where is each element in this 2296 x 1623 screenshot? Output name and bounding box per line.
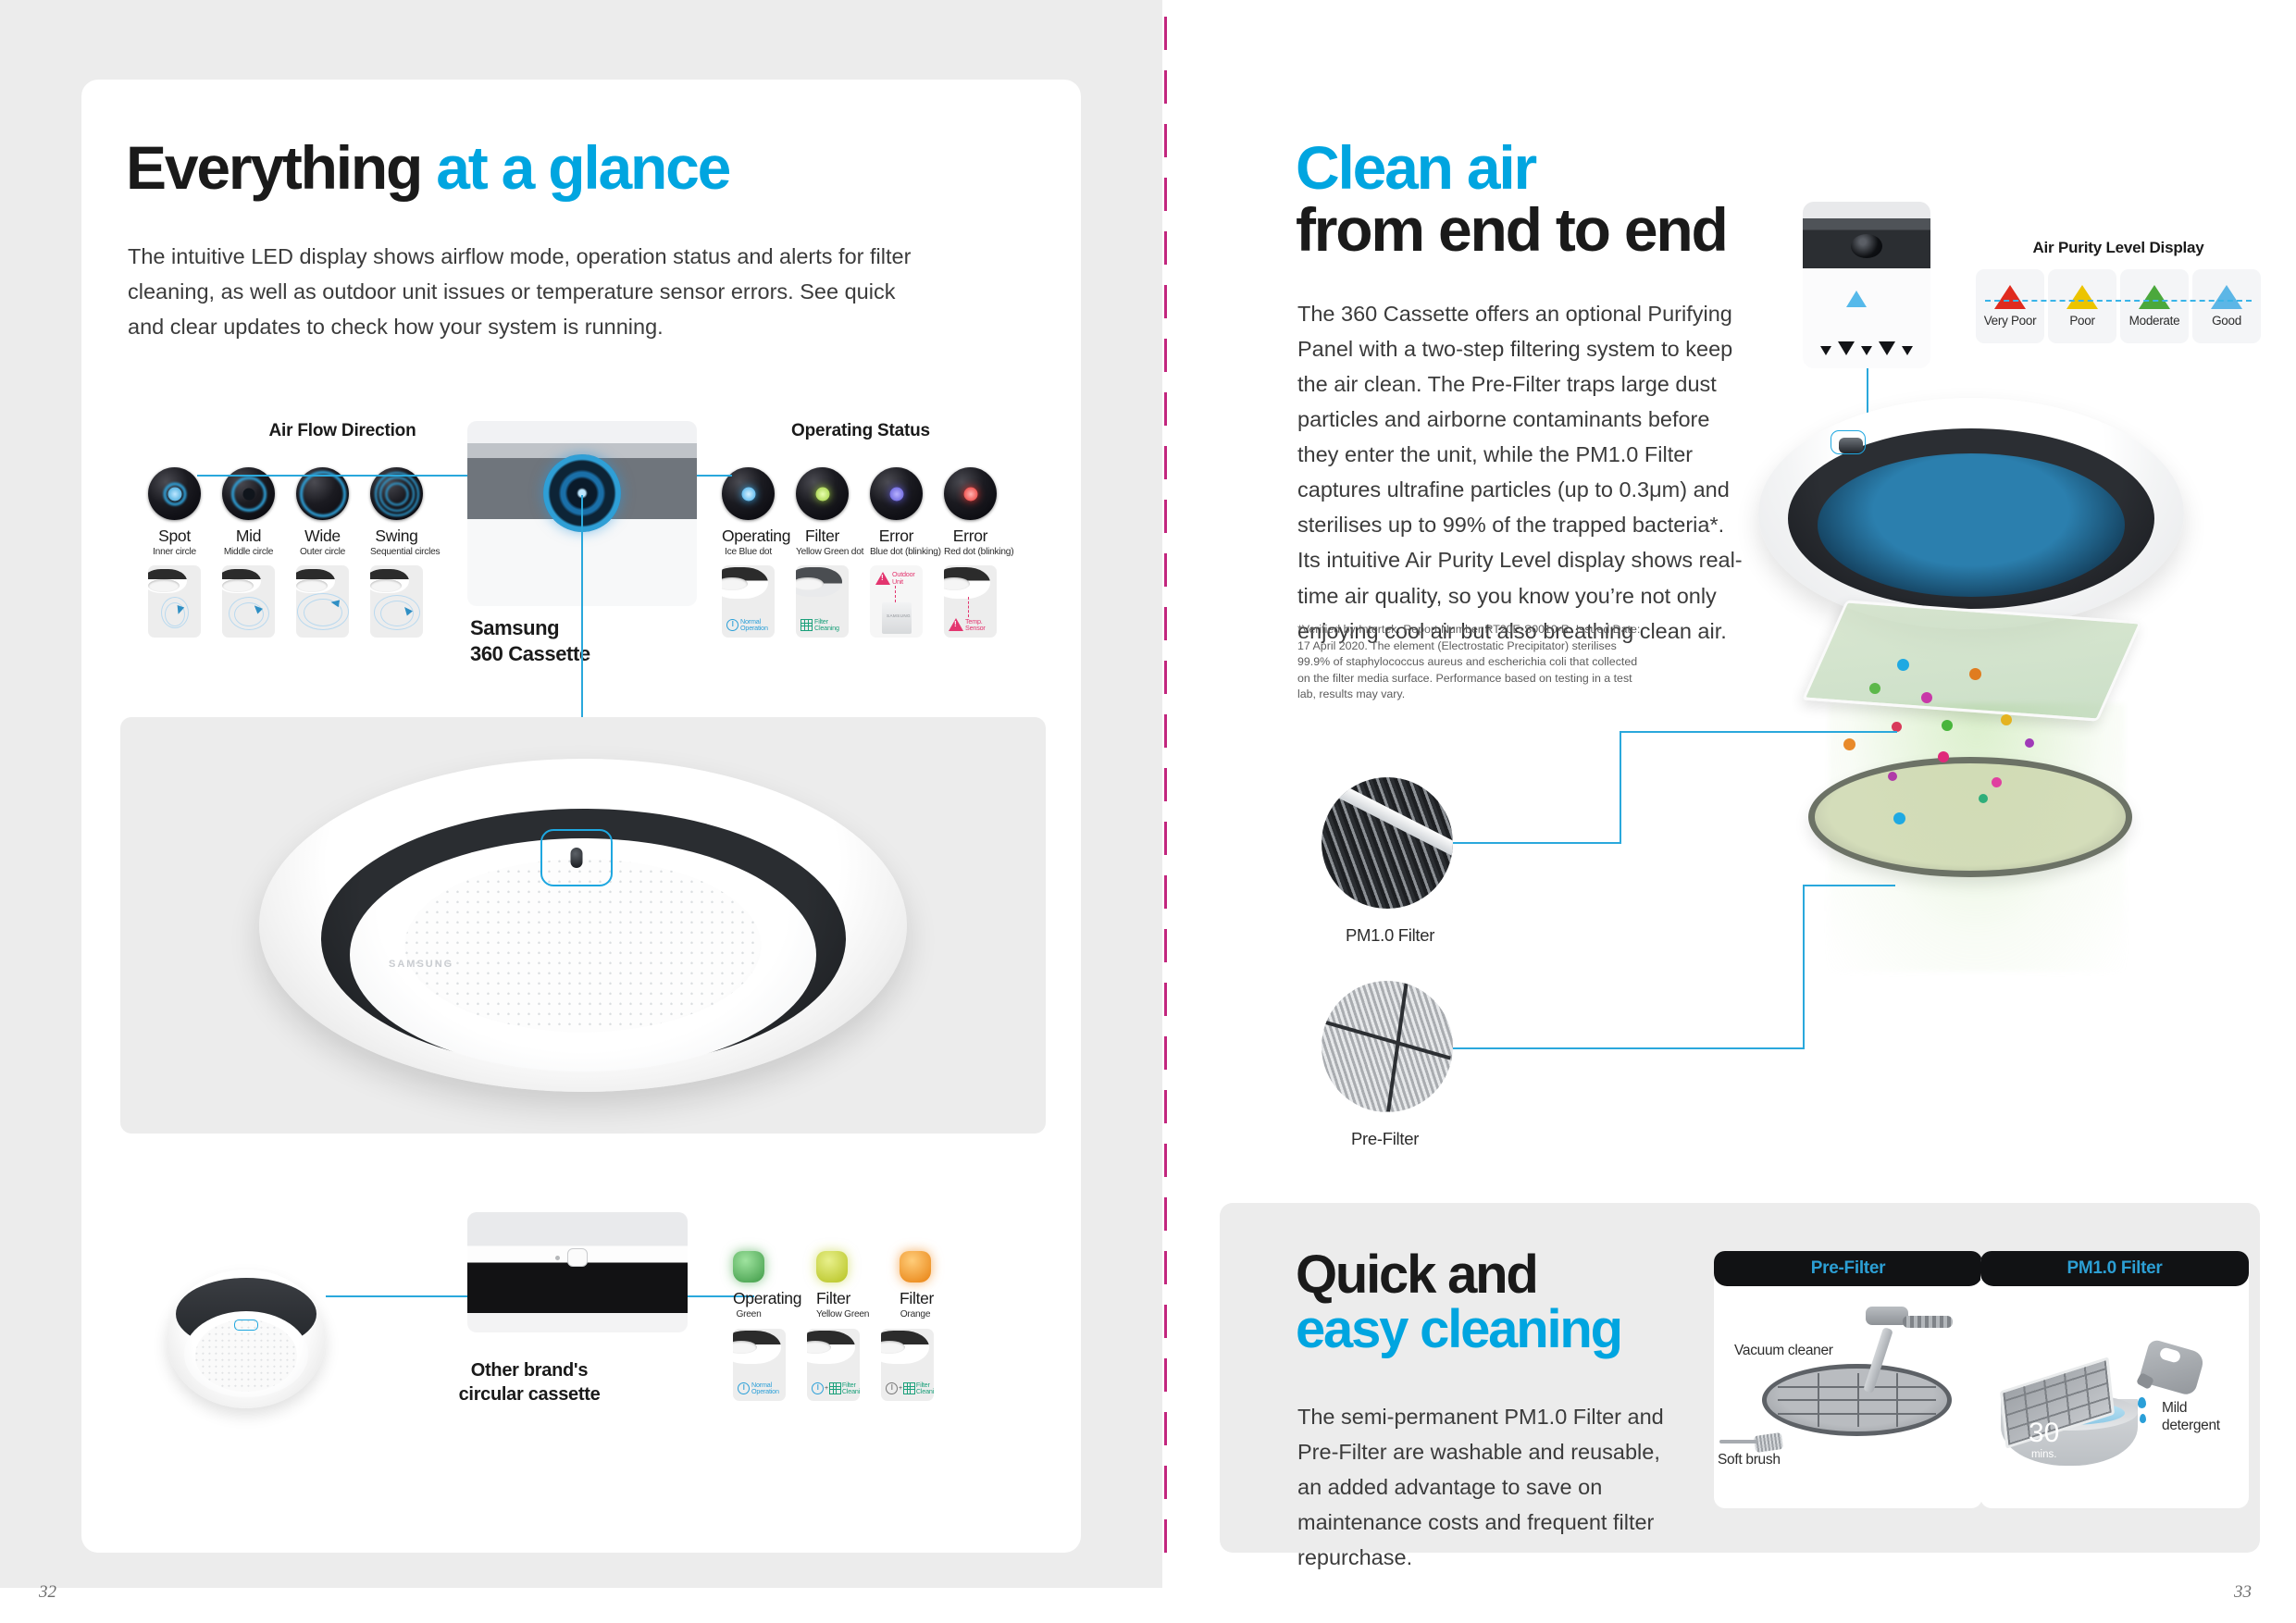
connector-pm10-v bbox=[1620, 731, 1621, 844]
airflow-thumb-spot bbox=[148, 565, 201, 638]
pm10-filter-closeup bbox=[1322, 777, 1453, 909]
pre-filter-caption: Pre-Filter bbox=[1351, 1129, 1419, 1149]
level-label: Poor bbox=[2069, 314, 2094, 328]
level-label: Very Poor bbox=[1984, 314, 2037, 328]
connector-prefilter-h bbox=[1453, 1047, 1805, 1049]
status-sub: Orange bbox=[900, 1309, 931, 1319]
other-brand-status-filter-orange: Filter Orange bbox=[900, 1251, 931, 1319]
power-icon bbox=[886, 1382, 898, 1394]
warning-icon bbox=[949, 618, 963, 631]
triangle-icon-good bbox=[2211, 285, 2242, 309]
other-brand-status-operating: Operating Green bbox=[733, 1251, 764, 1319]
particle-dot bbox=[2001, 714, 2012, 725]
right-title-part1: Clean air bbox=[1296, 133, 1535, 202]
air-purity-row: Very Poor Poor Moderate Good bbox=[1976, 269, 2261, 343]
cassette-detail-caption: Samsung 360 Cassette bbox=[470, 615, 590, 667]
status-sub: Red dot (blinking) bbox=[944, 547, 997, 557]
air-purity-title: Air Purity Level Display bbox=[1976, 239, 2261, 257]
sensor-module-closeup bbox=[1803, 202, 1930, 368]
outdoor-unit-icon-label: Outdoor Unit bbox=[875, 571, 915, 585]
card-note-vacuum: Vacuum cleaner bbox=[1734, 1342, 1833, 1359]
particle-dot bbox=[1921, 692, 1932, 703]
operating-status-title: Operating Status bbox=[722, 421, 999, 441]
pm10-filter-caption: PM1.0 Filter bbox=[1346, 925, 1434, 946]
mode-sub: Inner circle bbox=[148, 547, 201, 557]
air-flow-mode-mid: Mid Middle circle bbox=[222, 467, 275, 557]
quick-cleaning-title: Quick andeasy cleaning bbox=[1296, 1247, 1621, 1357]
other-brand-thumb-normal: Normal Operation bbox=[733, 1329, 786, 1401]
exploded-product-render bbox=[1740, 398, 2267, 879]
timer-unit: mins. bbox=[2029, 1449, 2059, 1460]
mode-name: Mid bbox=[222, 527, 275, 546]
status-sub: Yellow Green bbox=[816, 1309, 848, 1319]
triangle-icon-very-poor bbox=[1994, 285, 2026, 309]
pm10-filter-layer bbox=[1802, 600, 2142, 721]
brochure-spread: Everything at a glance The intuitive LED… bbox=[0, 0, 2296, 1623]
status-name: Error bbox=[944, 527, 997, 546]
other-brand-status-group: Operating Green Filter Yellow Green Filt… bbox=[733, 1251, 934, 1401]
page-number-right: 33 bbox=[2234, 1582, 2252, 1603]
mode-sub: Middle circle bbox=[222, 547, 275, 557]
right-page-body: The 360 Cassette offers an optional Puri… bbox=[1297, 296, 1751, 649]
connector-pm10-h2 bbox=[1620, 731, 1897, 733]
filter-cleaning-icon-label: + Filter Cleaning bbox=[886, 1381, 934, 1395]
filter-cleaning-icon-label: + Filter Cleaning bbox=[812, 1381, 860, 1395]
status-thumb-filter-cleaning: Filter Cleaning bbox=[796, 565, 849, 638]
air-purity-level-good: Good bbox=[2192, 269, 2261, 343]
led-icon-error-red bbox=[944, 467, 997, 520]
operating-status-thumbnail-row: Normal Operation Filter Cleaning SAMSUNG… bbox=[722, 565, 999, 638]
particle-dot bbox=[1888, 772, 1897, 781]
power-icon bbox=[726, 619, 738, 631]
mode-name: Spot bbox=[148, 527, 201, 546]
particle-dot bbox=[1969, 668, 1981, 680]
led-icon-spot bbox=[148, 467, 201, 520]
status-thumb-normal-operation: Normal Operation bbox=[722, 565, 775, 638]
particle-dot bbox=[1942, 720, 1953, 731]
triangle-icon-indicator bbox=[1846, 291, 1867, 307]
mode-sub: Outer circle bbox=[296, 547, 349, 557]
blob-icon-yellow-green bbox=[816, 1251, 848, 1282]
status-name: Filter bbox=[900, 1289, 931, 1308]
hero-product-panel: SAMSUNG bbox=[120, 717, 1046, 1134]
pre-filter-closeup bbox=[1322, 981, 1453, 1112]
status-thumb-outdoor-unit: SAMSUNG Outdoor Unit bbox=[870, 565, 923, 638]
samsung-logo: SAMSUNG bbox=[389, 959, 453, 970]
status-filter: Filter Yellow Green dot bbox=[796, 467, 849, 557]
power-icon bbox=[738, 1382, 750, 1394]
droplet-icon bbox=[2138, 1397, 2146, 1408]
particle-dot bbox=[1869, 683, 1880, 694]
level-label: Moderate bbox=[2129, 314, 2180, 328]
led-icon-error-blue bbox=[870, 467, 923, 520]
operating-status-led-row: Operating Ice Blue dot Filter Yellow Gre… bbox=[722, 467, 999, 557]
callout-node-prefilter bbox=[1893, 812, 1905, 824]
other-brand-thumb-filter-orange: + Filter Cleaning bbox=[881, 1329, 934, 1401]
other-brand-thumb-filter-yg: + Filter Cleaning bbox=[807, 1329, 860, 1401]
device-indicator-dot bbox=[555, 1256, 560, 1260]
card-badge: PM1.0 Filter bbox=[1980, 1251, 2249, 1286]
device-button bbox=[567, 1248, 588, 1267]
filter-cleaning-icon-label: Filter Cleaning bbox=[800, 618, 839, 632]
status-sub: Green bbox=[733, 1309, 764, 1319]
droplet-icon bbox=[2140, 1414, 2146, 1423]
mode-name: Wide bbox=[296, 527, 349, 546]
status-name: Operating bbox=[733, 1289, 764, 1308]
status-sub: Ice Blue dot bbox=[722, 547, 775, 557]
vacuum-cleaner-icon bbox=[1853, 1303, 1936, 1392]
air-purity-level-very-poor: Very Poor bbox=[1976, 269, 2044, 343]
card-illustration: Vacuum cleaner Soft brush bbox=[1714, 1286, 1982, 1508]
dashed-connector bbox=[1985, 300, 2252, 302]
cassette-360-photo: SAMSUNG bbox=[259, 759, 907, 1092]
connector-otherbrand-to-device bbox=[326, 1295, 470, 1297]
air-flow-mode-spot: Spot Inner circle bbox=[148, 467, 201, 557]
normal-operation-icon-label: Normal Operation bbox=[738, 1381, 779, 1395]
level-label: Good bbox=[2212, 314, 2241, 328]
connector-prefilter-h2 bbox=[1803, 885, 1895, 886]
timer-value: 30 bbox=[2029, 1419, 2059, 1447]
connector-pm10-h1 bbox=[1453, 842, 1620, 844]
status-error-outdoor: Error Blue dot (blinking) bbox=[870, 467, 923, 557]
other-brand-led-highlight bbox=[234, 1319, 258, 1331]
warning-icon bbox=[875, 572, 890, 585]
card-badge: Pre-Filter bbox=[1714, 1251, 1982, 1286]
card-illustration: 30 mins. Mild detergent bbox=[1980, 1286, 2249, 1508]
left-title-part1: Everything bbox=[126, 133, 436, 202]
right-page-footnote: *Verified by Intertek. Report Number RT2… bbox=[1297, 622, 1644, 703]
triangle-icon-poor bbox=[2066, 285, 2098, 309]
particle-dot bbox=[1843, 738, 1855, 750]
particle-dot bbox=[1979, 794, 1988, 803]
air-flow-mode-wide: Wide Outer circle bbox=[296, 467, 349, 557]
airflow-thumb-swing bbox=[370, 565, 423, 638]
vent-pattern bbox=[1803, 341, 1930, 355]
cassette-unit-render bbox=[1758, 398, 2184, 629]
page-divider bbox=[1164, 17, 1167, 1604]
connector-airflow-to-cassette bbox=[197, 475, 475, 477]
other-brand-status-filter-yg: Filter Yellow Green bbox=[816, 1251, 848, 1319]
sensor-icon bbox=[571, 848, 583, 868]
grid-icon bbox=[829, 1382, 841, 1394]
led-icon-filter bbox=[796, 467, 849, 520]
normal-operation-icon-label: Normal Operation bbox=[726, 618, 768, 632]
air-purity-level-moderate: Moderate bbox=[2120, 269, 2189, 343]
status-operating: Operating Ice Blue dot bbox=[722, 467, 775, 557]
cleaning-card-pm10: PM1.0 Filter 30 mins. Mild detergent bbox=[1980, 1251, 2249, 1508]
left-page-body: The intuitive LED display shows airflow … bbox=[128, 239, 914, 344]
grid-icon bbox=[800, 619, 813, 631]
left-page-title: Everything at a glance bbox=[126, 137, 729, 199]
status-sub: Yellow Green dot bbox=[796, 547, 849, 557]
qe-title-part2: easy cleaning bbox=[1296, 1299, 1621, 1359]
quick-cleaning-body: The semi-permanent PM1.0 Filter and Pre-… bbox=[1297, 1399, 1668, 1575]
status-name: Filter bbox=[796, 527, 849, 546]
particle-dot bbox=[1938, 751, 1949, 762]
led-display-highlight bbox=[540, 829, 613, 886]
status-thumb-temp-sensor: Temp. Sensor bbox=[944, 565, 997, 638]
grid-icon bbox=[903, 1382, 915, 1394]
temp-sensor-icon-label: Temp. Sensor bbox=[949, 618, 986, 632]
right-page-title: Clean airfrom end to end bbox=[1296, 137, 1727, 262]
callout-node-pm10 bbox=[1897, 659, 1909, 671]
left-title-part2: at a glance bbox=[436, 133, 729, 202]
airflow-thumb-wide bbox=[296, 565, 349, 638]
operating-status-group: Operating Status Operating Ice Blue dot … bbox=[722, 421, 999, 638]
connector-prefilter-v bbox=[1803, 885, 1805, 1049]
cleaning-card-prefilter: Pre-Filter Vacuum cleaner Soft brush bbox=[1714, 1251, 1982, 1508]
airflow-thumb-mid bbox=[222, 565, 275, 638]
card-note-detergent: Mild detergent bbox=[2162, 1399, 2247, 1435]
status-sub: Blue dot (blinking) bbox=[870, 547, 923, 557]
pre-filter-layer bbox=[1808, 757, 2132, 877]
air-flow-mode-swing: Swing Sequential circles bbox=[370, 467, 423, 557]
air-purity-level-group: Air Purity Level Display Very Poor Poor … bbox=[1976, 239, 2261, 343]
blob-icon-orange bbox=[900, 1251, 931, 1282]
qe-title-part1: Quick and bbox=[1296, 1245, 1537, 1305]
other-brand-caption: Other brand's circular cassette bbox=[459, 1358, 601, 1406]
power-icon bbox=[812, 1382, 824, 1394]
other-brand-device-detail bbox=[467, 1212, 688, 1332]
mode-sub: Sequential circles bbox=[370, 547, 423, 557]
triangle-icon-moderate bbox=[2139, 285, 2170, 309]
particle-dot bbox=[1992, 777, 2002, 787]
particle-dot bbox=[2025, 738, 2034, 748]
right-title-part2: from end to end bbox=[1296, 195, 1727, 264]
other-brand-cassette-photo bbox=[167, 1270, 326, 1408]
sensor-highlight bbox=[1831, 430, 1866, 454]
page-number-left: 32 bbox=[39, 1582, 56, 1603]
connector-cassette-to-status bbox=[697, 475, 732, 477]
status-name: Operating bbox=[722, 527, 775, 546]
detergent-bottle-icon bbox=[2136, 1338, 2204, 1399]
air-purity-level-poor: Poor bbox=[2048, 269, 2116, 343]
sensor-eye-icon bbox=[1851, 234, 1882, 258]
soft-brush-icon bbox=[1719, 1427, 1781, 1451]
status-error-temp: Error Red dot (blinking) bbox=[944, 467, 997, 557]
mode-name: Swing bbox=[370, 527, 423, 546]
status-name: Filter bbox=[816, 1289, 848, 1308]
blob-icon-green bbox=[733, 1251, 764, 1282]
wash-basin-illustration: 30 mins. bbox=[2001, 1377, 2138, 1466]
status-name: Error bbox=[870, 527, 923, 546]
soak-timer: 30 mins. bbox=[2029, 1419, 2059, 1460]
card-note-brush: Soft brush bbox=[1718, 1451, 1781, 1468]
